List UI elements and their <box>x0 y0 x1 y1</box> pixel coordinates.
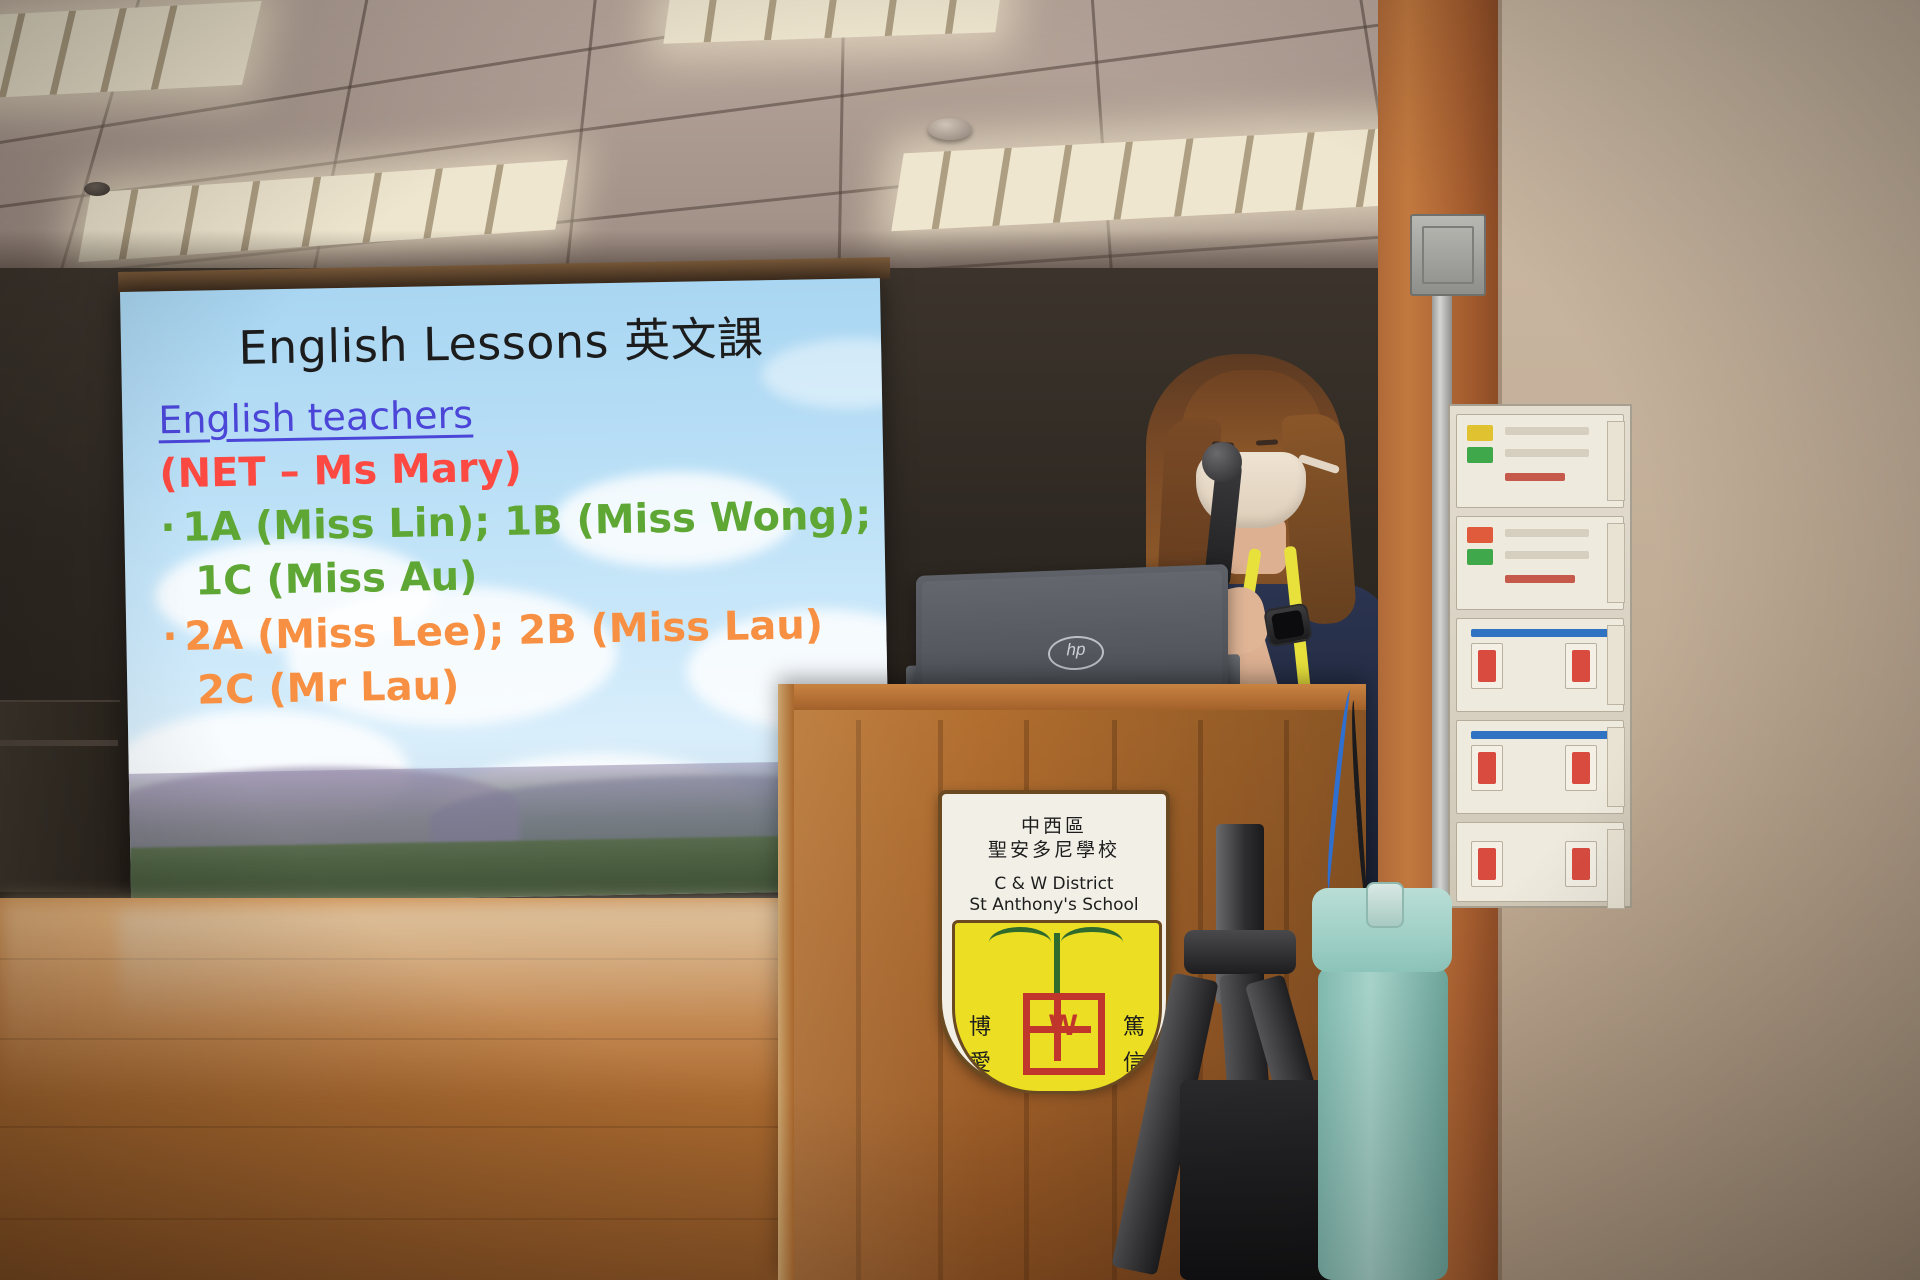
crest-motto-char: 博 <box>969 1009 991 1041</box>
wristwatch <box>1263 602 1313 647</box>
panel-section[interactable] <box>1456 822 1624 902</box>
breaker-switch[interactable] <box>1471 745 1503 791</box>
projection-screen: English Lessons 英文課 English teachers (NE… <box>120 278 891 904</box>
wall-panel <box>0 700 120 892</box>
crest-monogram: W <box>1049 1009 1077 1043</box>
panel-label <box>1607 523 1625 603</box>
panel-section[interactable] <box>1456 516 1624 610</box>
smoke-detector-icon <box>928 118 972 140</box>
panel-section[interactable] <box>1456 414 1624 508</box>
electrical-panel <box>1448 404 1632 908</box>
water-bottle <box>1308 888 1458 1280</box>
sprinkler-head-icon <box>84 182 110 196</box>
slide-bullet-1-text: 1A (Miss Lin); 1B (Miss Wong); <box>182 492 872 551</box>
indicator-light-green <box>1467 447 1493 463</box>
podium-side-edge <box>778 684 794 1280</box>
panel-label <box>1607 727 1625 807</box>
slide-bullet-3-text: 2A (Miss Lee); 2B (Miss Lau) <box>184 602 824 660</box>
slide-title-english: English Lessons <box>238 314 609 375</box>
slide-bullet-4-text: 2C (Mr Lau) <box>197 663 460 714</box>
bottle-body <box>1318 966 1448 1280</box>
slide-title: English Lessons 英文課 <box>120 300 881 380</box>
bullet-marker: · <box>160 501 183 556</box>
panel-label <box>1607 421 1625 501</box>
indicator-light-green <box>1467 549 1493 565</box>
indicator-light-red <box>1467 527 1493 543</box>
bottle-handle[interactable] <box>1366 882 1404 928</box>
panel-section[interactable] <box>1456 618 1624 712</box>
breaker-switch[interactable] <box>1471 643 1503 689</box>
indicator-light-amber <box>1467 425 1493 441</box>
crest-motto-char: 愛 <box>969 1045 991 1077</box>
bullet-marker: · <box>162 610 185 665</box>
slide-body: English teachers (NET – Ms Mary) ·1A (Mi… <box>158 382 874 719</box>
panel-label <box>1607 829 1625 909</box>
panel-section[interactable] <box>1456 720 1624 814</box>
breaker-switch[interactable] <box>1565 643 1597 689</box>
slide-title-chinese: 英文課 <box>624 311 764 368</box>
breaker-switch[interactable] <box>1471 841 1503 887</box>
tripod-knob[interactable] <box>1184 930 1296 974</box>
crest-frond-icon <box>1061 927 1123 958</box>
junction-box <box>1410 214 1486 296</box>
podium-top-surface <box>778 684 1366 710</box>
crest-shield: W 博 愛 篤 信 <box>952 920 1162 1094</box>
breaker-switch[interactable] <box>1565 745 1597 791</box>
panel-label <box>1607 625 1625 705</box>
wall-panel-trim <box>0 740 118 746</box>
breaker-switch[interactable] <box>1565 841 1597 887</box>
hall-photo-scene: English Lessons 英文課 English teachers (NE… <box>0 0 1920 1280</box>
crest-frond-icon <box>989 927 1051 958</box>
ceiling-light-fixture <box>0 1 262 99</box>
slide-bullet-2-text: 1C (Miss Au) <box>195 554 478 605</box>
